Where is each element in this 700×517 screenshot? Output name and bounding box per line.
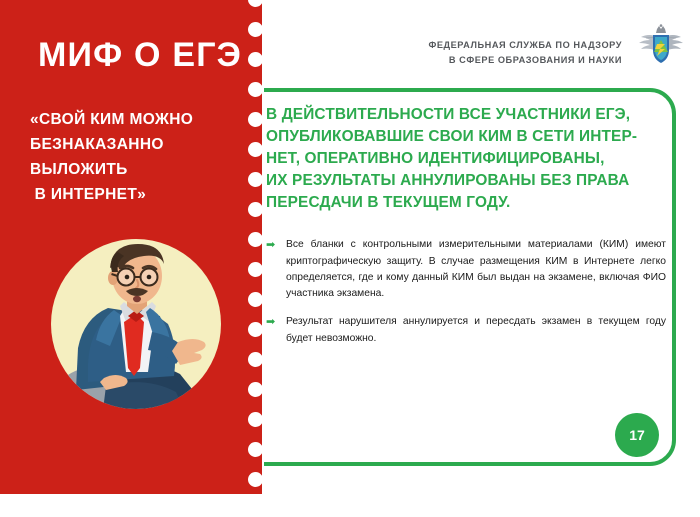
lead-line-3: НЕТ, ОПЕРАТИВНО ИДЕНТИФИЦИРОВАНЫ, bbox=[266, 148, 666, 170]
explanation-list: ➡ Все бланки с контрольными измерительны… bbox=[266, 237, 666, 347]
arrow-right-icon: ➡ bbox=[266, 238, 275, 254]
page-number-text: 17 bbox=[629, 427, 645, 443]
list-item: ➡ Все бланки с контрольными измерительны… bbox=[266, 237, 666, 302]
myth-quote-ov-2: БЕЗНАКАЗАННО bbox=[30, 132, 255, 157]
main-content: В ДЕЙСТВИТЕЛЬНОСТИ ВСЕ УЧАСТНИКИ ЕГЭ, ОП… bbox=[266, 104, 666, 359]
slide-root: МИФ О ЕГЭ «СВОЙ КИМ МОЖНО БЕЗНАКАЗАННО В… bbox=[0, 0, 700, 494]
rosobrnadzor-emblem-icon bbox=[638, 24, 684, 70]
lead-line-2: ОПУБЛИКОВАВШИЕ СВОИ КИМ В СЕТИ ИНТЕР- bbox=[266, 126, 666, 148]
illustration-overlay bbox=[48, 236, 224, 412]
myth-quote-ov-4: В ИНТЕРНЕТ» bbox=[30, 182, 255, 207]
lead-statement: В ДЕЙСТВИТЕЛЬНОСТИ ВСЕ УЧАСТНИКИ ЕГЭ, ОП… bbox=[266, 104, 666, 213]
emblem-svg bbox=[638, 24, 684, 70]
arrow-right-icon: ➡ bbox=[266, 315, 275, 331]
scallop-notch bbox=[248, 502, 263, 517]
myth-quote-ov-1: «СВОЙ КИМ МОЖНО bbox=[30, 107, 255, 132]
list-item: ➡ Результат нарушителя аннулируется и пе… bbox=[266, 314, 666, 347]
list-item-text: Результат нарушителя аннулируется и пере… bbox=[286, 316, 666, 343]
myth-quote-ov-3: ВЫЛОЖИТЬ bbox=[30, 157, 255, 182]
org-header-line-2: В СФЕРЕ ОБРАЗОВАНИЯ И НАУКИ bbox=[342, 53, 622, 68]
illustration-svg-overlay bbox=[48, 236, 224, 412]
page-title-overlay: МИФ О ЕГЭ bbox=[38, 38, 253, 74]
page-number-badge: 17 bbox=[615, 413, 659, 457]
page-title-text-overlay: МИФ О ЕГЭ bbox=[38, 36, 242, 74]
myth-quote-overlay: «СВОЙ КИМ МОЖНО БЕЗНАКАЗАННО ВЫЛОЖИТЬ В … bbox=[30, 107, 255, 207]
lead-line-1: В ДЕЙСТВИТЕЛЬНОСТИ ВСЕ УЧАСТНИКИ ЕГЭ, bbox=[266, 104, 666, 126]
org-header-line-1: ФЕДЕРАЛЬНАЯ СЛУЖБА ПО НАДЗОРУ bbox=[342, 38, 622, 53]
organization-header: ФЕДЕРАЛЬНАЯ СЛУЖБА ПО НАДЗОРУ В СФЕРЕ ОБ… bbox=[342, 38, 622, 68]
scallop-notch bbox=[248, 502, 263, 517]
lead-line-5: ПЕРЕСДАЧИ В ТЕКУЩЕМ ГОДУ. bbox=[266, 192, 666, 214]
lead-line-4: ИХ РЕЗУЛЬТАТЫ АННУЛИРОВАНЫ БЕЗ ПРАВА bbox=[266, 170, 666, 192]
list-item-text: Все бланки с контрольными измерительными… bbox=[286, 239, 666, 299]
